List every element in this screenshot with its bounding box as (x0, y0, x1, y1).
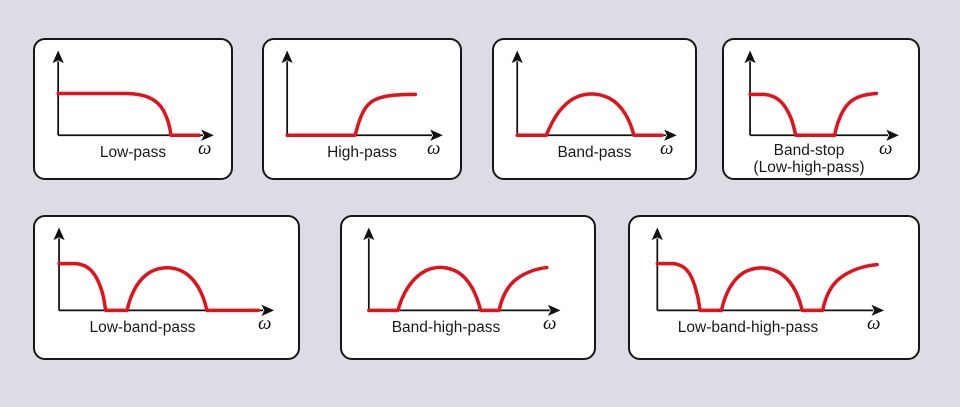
response-curve (369, 267, 547, 310)
omega-symbol-band-stop: ω (879, 138, 892, 160)
response-curve (287, 94, 415, 135)
response-curve (517, 94, 662, 135)
low-band-pass-plot (35, 217, 298, 358)
response-curve (750, 93, 876, 135)
omega-symbol-high-pass: ω (427, 138, 440, 160)
panel-band-stop: ω Band-stop (Low-high-pass) (722, 38, 920, 180)
panel-low-band-pass: ω Low-band-pass (33, 215, 300, 360)
filter-types-figure: ω Low-pass ω High-pass (0, 0, 960, 407)
panel-low-band-high-pass: ω Low-band-high-pass (628, 215, 920, 360)
omega-symbol-low-band-high-pass: ω (867, 313, 880, 335)
omega-symbol-low-band-pass: ω (258, 313, 271, 335)
omega-symbol-band-pass: ω (660, 138, 673, 160)
response-curve (58, 93, 199, 135)
omega-symbol-band-high-pass: ω (543, 313, 556, 335)
panel-band-pass: ω Band-pass (492, 38, 697, 180)
omega-symbol-low-pass: ω (198, 138, 211, 160)
response-curve (59, 264, 258, 311)
low-band-high-pass-plot (630, 217, 918, 358)
response-curve (657, 264, 877, 311)
panel-band-high-pass: ω Band-high-pass (340, 215, 596, 360)
panel-high-pass: ω High-pass (262, 38, 462, 180)
panel-low-pass: ω Low-pass (33, 38, 233, 180)
band-high-pass-plot (342, 217, 594, 358)
